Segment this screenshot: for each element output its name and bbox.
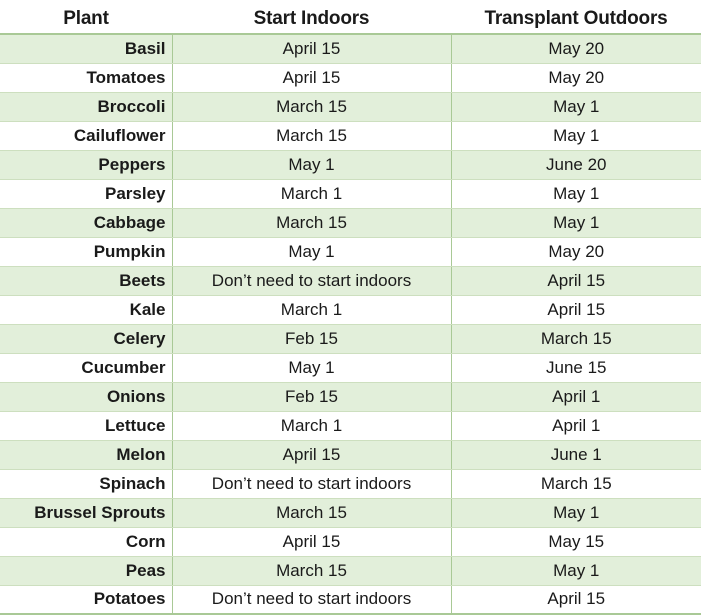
table-row: CornApril 15May 15 (0, 527, 701, 556)
cell-plant-name: Celery (0, 324, 172, 353)
cell-transplant-outdoors: March 15 (451, 469, 701, 498)
cell-plant-name: Brussel Sprouts (0, 498, 172, 527)
table-row: CabbageMarch 15May 1 (0, 208, 701, 237)
cell-plant-name: Parsley (0, 179, 172, 208)
cell-transplant-outdoors: May 1 (451, 208, 701, 237)
cell-transplant-outdoors: April 15 (451, 266, 701, 295)
cell-start-indoors: April 15 (172, 63, 451, 92)
cell-start-indoors: April 15 (172, 440, 451, 469)
cell-transplant-outdoors: May 1 (451, 179, 701, 208)
cell-start-indoors: May 1 (172, 150, 451, 179)
table-row: OnionsFeb 15April 1 (0, 382, 701, 411)
cell-start-indoors: March 15 (172, 208, 451, 237)
cell-transplant-outdoors: May 15 (451, 527, 701, 556)
table-row: CeleryFeb 15March 15 (0, 324, 701, 353)
cell-transplant-outdoors: April 15 (451, 585, 701, 614)
cell-transplant-outdoors: May 1 (451, 92, 701, 121)
cell-plant-name: Onions (0, 382, 172, 411)
cell-plant-name: Melon (0, 440, 172, 469)
cell-plant-name: Spinach (0, 469, 172, 498)
column-header-start-indoors: Start Indoors (172, 0, 451, 34)
table-row: PeasMarch 15May 1 (0, 556, 701, 585)
cell-plant-name: Corn (0, 527, 172, 556)
header-row: Plant Start Indoors Transplant Outdoors (0, 0, 701, 34)
cell-transplant-outdoors: March 15 (451, 324, 701, 353)
cell-start-indoors: March 15 (172, 92, 451, 121)
cell-plant-name: Broccoli (0, 92, 172, 121)
table-row: BeetsDon’t need to start indoorsApril 15 (0, 266, 701, 295)
cell-transplant-outdoors: June 20 (451, 150, 701, 179)
cell-transplant-outdoors: May 20 (451, 237, 701, 266)
cell-plant-name: Peas (0, 556, 172, 585)
cell-transplant-outdoors: May 1 (451, 556, 701, 585)
cell-plant-name: Tomatoes (0, 63, 172, 92)
cell-transplant-outdoors: May 20 (451, 34, 701, 63)
cell-transplant-outdoors: June 1 (451, 440, 701, 469)
cell-plant-name: Lettuce (0, 411, 172, 440)
cell-start-indoors: March 15 (172, 556, 451, 585)
cell-start-indoors: Don’t need to start indoors (172, 585, 451, 614)
table-row: Brussel SproutsMarch 15May 1 (0, 498, 701, 527)
cell-start-indoors: Don’t need to start indoors (172, 266, 451, 295)
cell-plant-name: Cailuflower (0, 121, 172, 150)
cell-start-indoors: March 1 (172, 295, 451, 324)
cell-plant-name: Beets (0, 266, 172, 295)
table-row: CucumberMay 1June 15 (0, 353, 701, 382)
table-row: BasilApril 15May 20 (0, 34, 701, 63)
cell-transplant-outdoors: April 1 (451, 411, 701, 440)
column-header-transplant-outdoors: Transplant Outdoors (451, 0, 701, 34)
table-body: BasilApril 15May 20TomatoesApril 15May 2… (0, 34, 701, 614)
cell-start-indoors: May 1 (172, 237, 451, 266)
cell-start-indoors: Don’t need to start indoors (172, 469, 451, 498)
table-row: KaleMarch 1April 15 (0, 295, 701, 324)
table-row: PeppersMay 1June 20 (0, 150, 701, 179)
cell-transplant-outdoors: June 15 (451, 353, 701, 382)
cell-start-indoors: Feb 15 (172, 382, 451, 411)
cell-start-indoors: May 1 (172, 353, 451, 382)
cell-plant-name: Cucumber (0, 353, 172, 382)
planting-schedule-table: Plant Start Indoors Transplant Outdoors … (0, 0, 701, 615)
cell-transplant-outdoors: April 1 (451, 382, 701, 411)
cell-plant-name: Cabbage (0, 208, 172, 237)
cell-plant-name: Basil (0, 34, 172, 63)
table-row: BroccoliMarch 15May 1 (0, 92, 701, 121)
cell-start-indoors: April 15 (172, 527, 451, 556)
cell-start-indoors: March 1 (172, 179, 451, 208)
column-header-plant: Plant (0, 0, 172, 34)
cell-start-indoors: March 1 (172, 411, 451, 440)
cell-plant-name: Potatoes (0, 585, 172, 614)
table-row: MelonApril 15June 1 (0, 440, 701, 469)
table-row: SpinachDon’t need to start indoorsMarch … (0, 469, 701, 498)
table-row: TomatoesApril 15May 20 (0, 63, 701, 92)
table-row: ParsleyMarch 1May 1 (0, 179, 701, 208)
cell-transplant-outdoors: May 20 (451, 63, 701, 92)
table-row: PumpkinMay 1May 20 (0, 237, 701, 266)
cell-transplant-outdoors: May 1 (451, 498, 701, 527)
cell-transplant-outdoors: April 15 (451, 295, 701, 324)
cell-plant-name: Peppers (0, 150, 172, 179)
cell-start-indoors: April 15 (172, 34, 451, 63)
cell-start-indoors: Feb 15 (172, 324, 451, 353)
table-header: Plant Start Indoors Transplant Outdoors (0, 0, 701, 34)
cell-start-indoors: March 15 (172, 121, 451, 150)
cell-plant-name: Kale (0, 295, 172, 324)
table-row: PotatoesDon’t need to start indoorsApril… (0, 585, 701, 614)
table-row: CailuflowerMarch 15May 1 (0, 121, 701, 150)
cell-start-indoors: March 15 (172, 498, 451, 527)
cell-plant-name: Pumpkin (0, 237, 172, 266)
cell-transplant-outdoors: May 1 (451, 121, 701, 150)
table-row: LettuceMarch 1April 1 (0, 411, 701, 440)
